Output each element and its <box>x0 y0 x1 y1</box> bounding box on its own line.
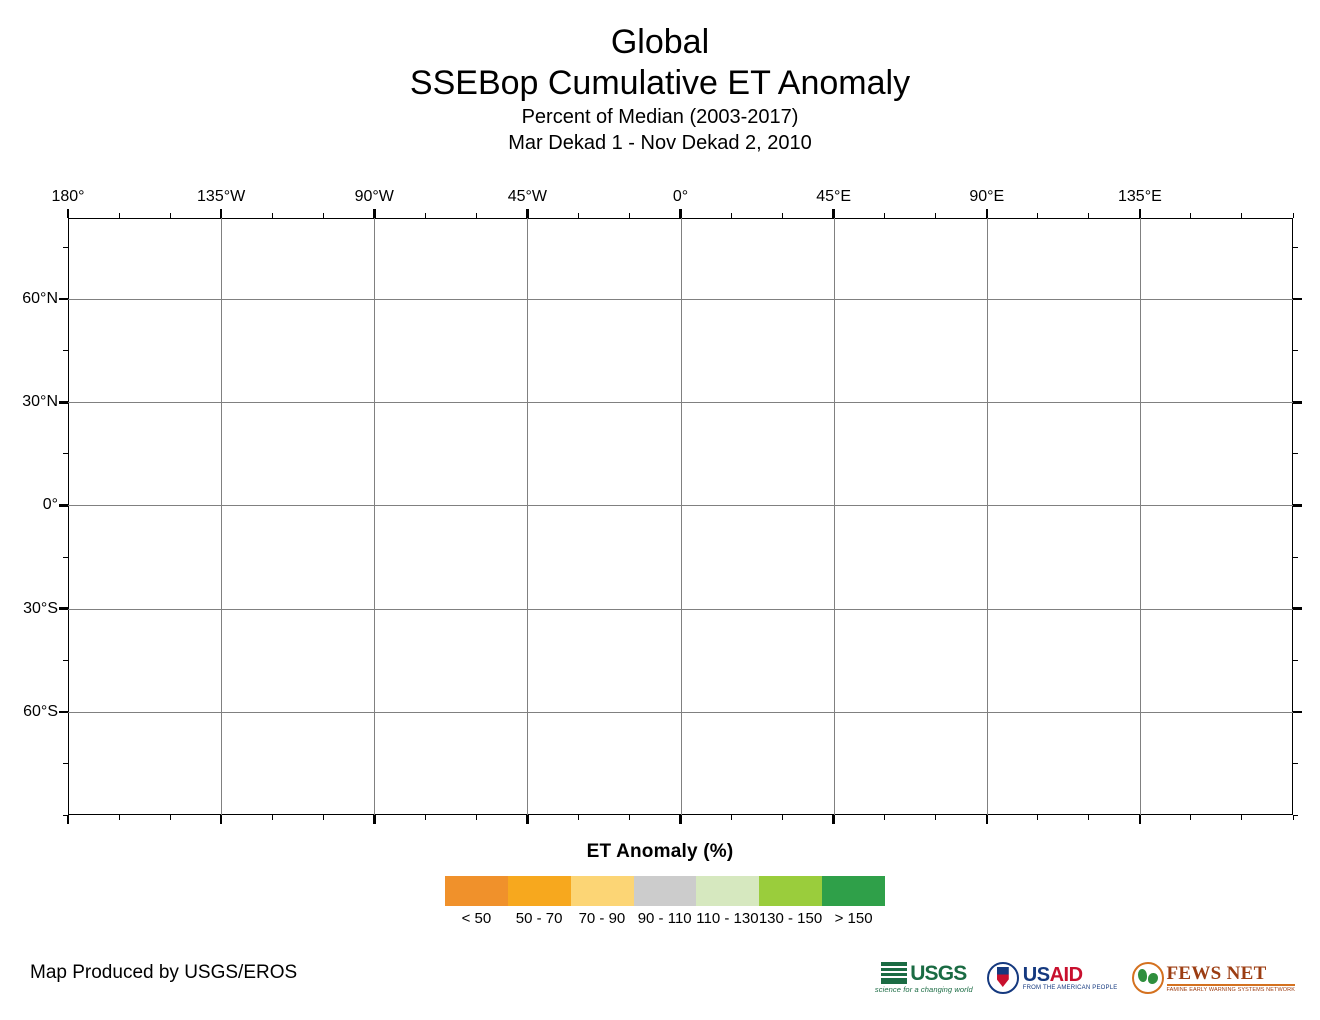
lat-minor-tick <box>1293 815 1298 816</box>
lat-minor-tick <box>63 557 68 558</box>
lat-minor-tick <box>1293 660 1298 661</box>
legend-color-bar <box>445 876 885 906</box>
lon-label: 90°E <box>969 188 1004 206</box>
agency-logos: USGS science for a changing world USAID … <box>875 952 1295 1004</box>
lon-minor-tick <box>884 815 885 820</box>
lon-minor-tick <box>1190 213 1191 218</box>
legend-swatch-5 <box>759 876 822 906</box>
lon-minor-tick <box>1293 815 1294 820</box>
title-period: Percent of Median (2003-2017) <box>0 104 1320 130</box>
legend-label-4: 110 - 130 <box>696 908 759 930</box>
lon-minor-tick <box>323 815 324 820</box>
lon-major-tick <box>373 815 376 824</box>
fews-tagline: FAMINE EARLY WARNING SYSTEMS NETWORK <box>1167 987 1296 993</box>
lat-label: 60°S <box>2 703 58 721</box>
lon-minor-tick <box>629 815 630 820</box>
legend-swatch-6 <box>822 876 885 906</box>
legend-label-1: 50 - 70 <box>508 908 571 930</box>
lon-minor-tick <box>170 815 171 820</box>
page-title: Global <box>0 22 1320 62</box>
lon-label: 135°W <box>197 188 245 206</box>
legend-swatch-2 <box>571 876 634 906</box>
lat-minor-tick <box>1293 453 1298 454</box>
usgs-wave-icon <box>881 962 907 984</box>
lon-minor-tick <box>1037 815 1038 820</box>
lon-major-tick <box>679 209 682 218</box>
lon-minor-tick <box>935 213 936 218</box>
lon-label: 90°W <box>355 188 394 206</box>
lon-minor-tick <box>1088 815 1089 820</box>
lat-minor-tick <box>1293 763 1298 764</box>
lon-minor-tick <box>731 815 732 820</box>
map-frame <box>68 218 1293 815</box>
lon-minor-tick <box>578 815 579 820</box>
lat-major-tick <box>59 298 68 301</box>
lon-minor-tick <box>425 815 426 820</box>
lon-minor-tick <box>1241 815 1242 820</box>
lon-minor-tick <box>884 213 885 218</box>
lon-minor-tick <box>578 213 579 218</box>
lon-minor-tick <box>1088 213 1089 218</box>
lat-major-tick <box>59 711 68 714</box>
page-subtitle: SSEBop Cumulative ET Anomaly <box>0 62 1320 104</box>
map-credit: Map Produced by USGS/EROS <box>30 962 297 984</box>
legend-label-0: < 50 <box>445 908 508 930</box>
lat-minor-tick <box>63 815 68 816</box>
lon-minor-tick <box>935 815 936 820</box>
usaid-wordmark: USAID <box>1023 965 1118 985</box>
lon-major-tick <box>832 815 835 824</box>
lon-major-tick <box>832 209 835 218</box>
lat-major-tick <box>59 607 68 610</box>
lon-minor-tick <box>1190 815 1191 820</box>
lon-minor-tick <box>272 815 273 820</box>
lat-major-tick <box>1293 607 1302 610</box>
lon-major-tick <box>526 815 529 824</box>
lat-minor-tick <box>63 247 68 248</box>
lon-major-tick <box>67 209 70 218</box>
legend-label-6: > 150 <box>822 908 885 930</box>
lon-minor-tick <box>629 213 630 218</box>
lon-minor-tick <box>119 815 120 820</box>
lon-major-tick <box>67 815 70 824</box>
lon-major-tick <box>373 209 376 218</box>
lat-minor-tick <box>63 350 68 351</box>
lat-minor-tick <box>63 763 68 764</box>
legend-label-5: 130 - 150 <box>759 908 822 930</box>
title-block: Global SSEBop Cumulative ET Anomaly Perc… <box>0 22 1320 156</box>
legend-label-3: 90 - 110 <box>633 908 696 930</box>
lon-label: 135°E <box>1118 188 1162 206</box>
fews-wordmark: FEWS NET <box>1167 964 1296 983</box>
lon-major-tick <box>220 815 223 824</box>
lat-label: 30°S <box>2 600 58 618</box>
lat-label: 60°N <box>2 290 58 308</box>
lon-major-tick <box>1139 209 1142 218</box>
lat-major-tick <box>1293 711 1302 714</box>
legend-swatch-3 <box>634 876 697 906</box>
lon-major-tick <box>986 815 989 824</box>
lat-major-tick <box>1293 504 1302 507</box>
legend-label-2: 70 - 90 <box>571 908 634 930</box>
lon-major-tick <box>1139 815 1142 824</box>
lon-minor-tick <box>782 815 783 820</box>
lon-minor-tick <box>476 213 477 218</box>
lon-label: 0° <box>673 188 688 206</box>
lon-major-tick <box>679 815 682 824</box>
lat-major-tick <box>59 401 68 404</box>
lat-minor-tick <box>1293 350 1298 351</box>
legend-swatch-0 <box>445 876 508 906</box>
legend-title: ET Anomaly (%) <box>0 841 1320 863</box>
lon-minor-tick <box>170 213 171 218</box>
lon-minor-tick <box>731 213 732 218</box>
lon-minor-tick <box>1037 213 1038 218</box>
lat-label: 0° <box>2 496 58 514</box>
legend-swatch-1 <box>508 876 571 906</box>
lat-label: 30°N <box>2 393 58 411</box>
lon-label: 180° <box>51 188 84 206</box>
usaid-seal-icon <box>987 962 1019 994</box>
fews-divider <box>1167 984 1296 986</box>
usgs-tagline: science for a changing world <box>875 985 973 994</box>
lat-major-tick <box>1293 401 1302 404</box>
lon-major-tick <box>526 209 529 218</box>
lon-minor-tick <box>1241 213 1242 218</box>
lon-minor-tick <box>1293 213 1294 218</box>
lat-minor-tick <box>1293 557 1298 558</box>
lon-minor-tick <box>119 213 120 218</box>
legend-labels: < 5050 - 7070 - 9090 - 110110 - 130130 -… <box>445 908 885 930</box>
legend: ET Anomaly (%) <box>0 841 1320 863</box>
lat-major-tick <box>1293 298 1302 301</box>
lat-minor-tick <box>1293 247 1298 248</box>
usgs-logo[interactable]: USGS science for a changing world <box>875 962 973 994</box>
lon-label: 45°E <box>816 188 851 206</box>
lon-major-tick <box>220 209 223 218</box>
lon-minor-tick <box>272 213 273 218</box>
usaid-logo[interactable]: USAID FROM THE AMERICAN PEOPLE <box>987 962 1118 994</box>
lon-major-tick <box>986 209 989 218</box>
lat-major-tick <box>59 504 68 507</box>
map-container[interactable] <box>68 218 1293 815</box>
fews-globe-icon <box>1132 962 1164 994</box>
lon-minor-tick <box>323 213 324 218</box>
fews-logo[interactable]: FEWS NET FAMINE EARLY WARNING SYSTEMS NE… <box>1132 962 1296 994</box>
usgs-wordmark: USGS <box>910 963 966 984</box>
lat-minor-tick <box>63 453 68 454</box>
lon-label: 45°W <box>508 188 547 206</box>
lon-minor-tick <box>782 213 783 218</box>
lat-minor-tick <box>63 660 68 661</box>
lon-minor-tick <box>476 815 477 820</box>
usaid-tagline: FROM THE AMERICAN PEOPLE <box>1023 985 1118 991</box>
title-daterange: Mar Dekad 1 - Nov Dekad 2, 2010 <box>0 130 1320 156</box>
legend-swatch-4 <box>696 876 759 906</box>
lon-minor-tick <box>425 213 426 218</box>
